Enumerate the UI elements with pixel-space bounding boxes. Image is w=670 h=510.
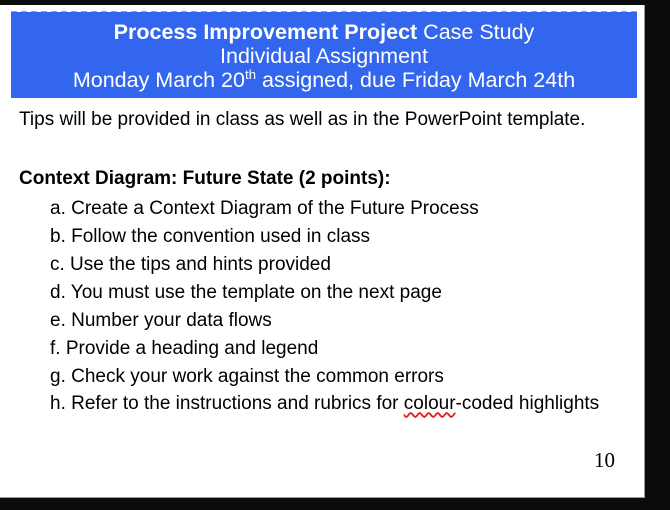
list-item-prefix: h. Refer to the instructions and rubrics… [50, 393, 404, 414]
list-item: f. Provide a heading and legend [50, 335, 619, 363]
title-line-1: Process Improvement Project Case Study [114, 20, 535, 44]
list-item: c. Use the tips and hints provided [50, 251, 619, 279]
spellcheck-misspelled-word[interactable]: colour [404, 393, 456, 414]
title-date-prefix: Monday March 20 [73, 68, 245, 92]
title-regular-text: Case Study [417, 20, 534, 44]
title-date-suffix: assigned, due Friday March 24th [256, 68, 575, 92]
title-ordinal-superscript: th [245, 67, 256, 82]
page-number: 10 [594, 448, 615, 473]
requirements-list: a. Create a Context Diagram of the Futur… [19, 195, 619, 418]
list-item: b. Follow the convention used in class [50, 223, 619, 251]
slide-viewer: Process Improvement Project Case Study I… [0, 0, 670, 510]
title-banner[interactable]: Process Improvement Project Case Study I… [11, 12, 637, 98]
intro-paragraph: Tips will be provided in class as well a… [19, 110, 619, 129]
list-item-with-spellcheck: h. Refer to the instructions and rubrics… [50, 390, 619, 418]
list-item: g. Check your work against the common er… [50, 363, 619, 391]
slide-body: Tips will be provided in class as well a… [19, 110, 619, 418]
list-item: d. You must use the template on the next… [50, 279, 619, 307]
title-bold-text: Process Improvement Project [114, 20, 418, 44]
list-item: e. Number your data flows [50, 307, 619, 335]
title-line-2: Individual Assignment [220, 44, 428, 68]
list-item: a. Create a Context Diagram of the Futur… [50, 195, 619, 223]
list-item-suffix: -coded highlights [456, 393, 600, 414]
section-heading: Context Diagram: Future State (2 points)… [19, 169, 619, 188]
slide-canvas: Process Improvement Project Case Study I… [0, 5, 645, 498]
title-line-3: Monday March 20th assigned, due Friday M… [73, 68, 575, 92]
